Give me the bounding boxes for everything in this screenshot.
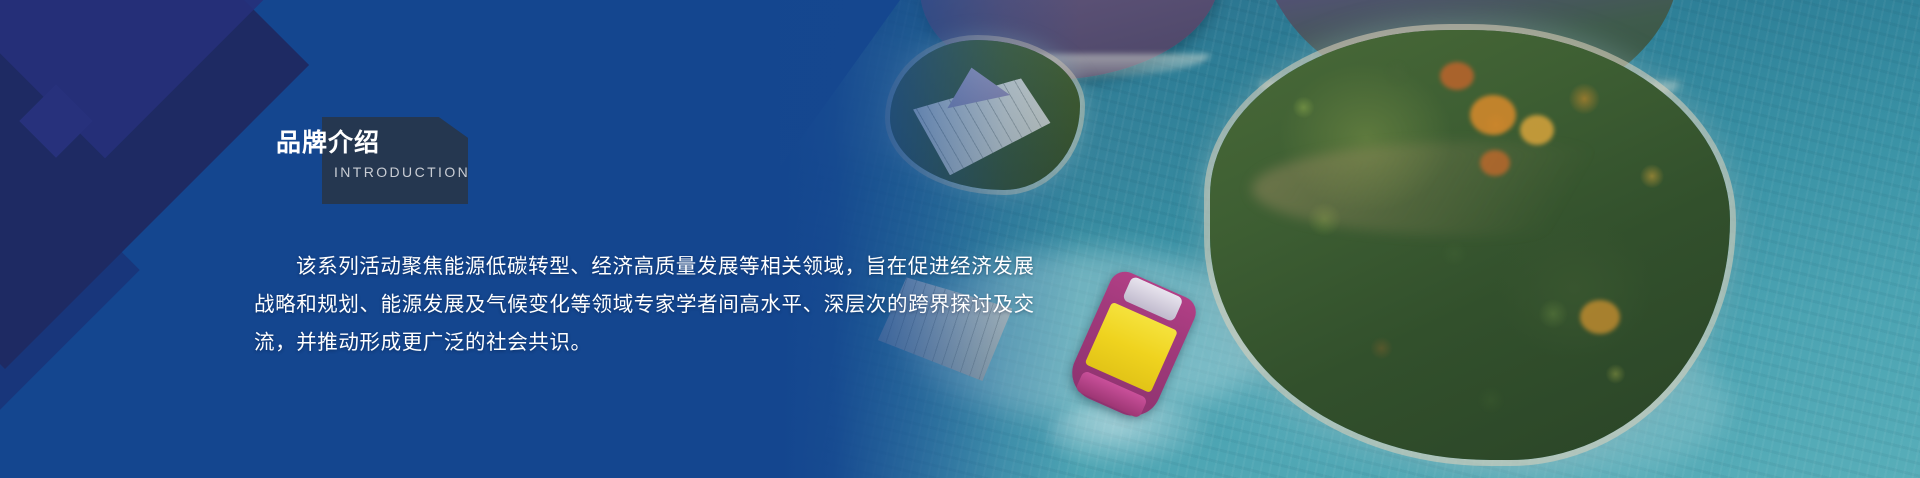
autumn-canopy bbox=[1580, 300, 1620, 334]
intro-paragraph: 该系列活动聚焦能源低碳转型、经济高质量发展等相关领域，旨在促进经济发展战略和规划… bbox=[254, 248, 1044, 362]
autumn-canopy bbox=[1440, 62, 1474, 90]
hero-photograph bbox=[780, 0, 1920, 478]
section-heading-chip: 品牌介绍 INTRODUCTION bbox=[250, 117, 468, 204]
autumn-canopy bbox=[1470, 95, 1516, 135]
banner-section: 品牌介绍 INTRODUCTION 该系列活动聚焦能源低碳转型、经济高质量发展等… bbox=[0, 0, 1920, 478]
autumn-canopy bbox=[1520, 115, 1554, 145]
page-title: 品牌介绍 bbox=[250, 123, 468, 163]
autumn-canopy bbox=[1480, 150, 1510, 176]
page-subtitle: INTRODUCTION bbox=[250, 161, 468, 183]
island-ridge bbox=[1252, 142, 1699, 237]
